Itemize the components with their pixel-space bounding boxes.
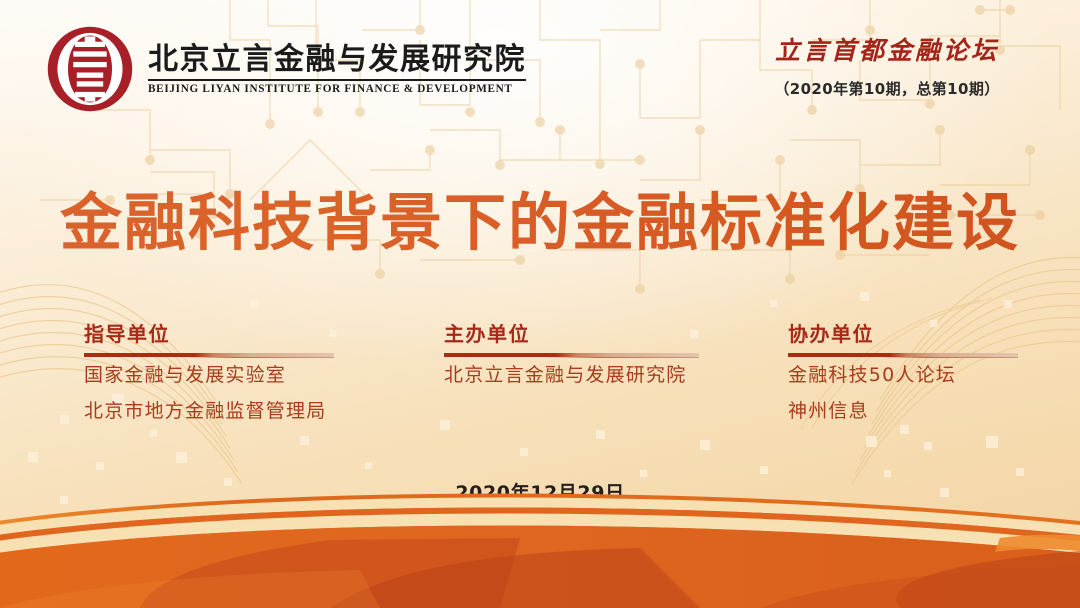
unit-line: 国家金融与发展实验室: [84, 366, 334, 385]
forum-title: 立言首都金融论坛: [742, 36, 1032, 66]
unit-heading: 指导单位: [84, 322, 334, 347]
unit-line: 北京立言金融与发展研究院: [444, 366, 699, 385]
unit-column-host: 主办单位 北京立言金融与发展研究院: [444, 322, 699, 402]
unit-divider: [84, 353, 334, 357]
institute-name-cn: 北京立言金融与发展研究院: [148, 43, 526, 77]
unit-line: 金融科技50人论坛: [788, 366, 1018, 385]
institute-name-en: BEIJING LIYAN INSTITUTE FOR FINANCE & DE…: [148, 83, 526, 95]
logo-divider: [148, 79, 526, 82]
unit-column-guiding: 指导单位 国家金融与发展实验室 北京市地方金融监督管理局: [84, 322, 334, 438]
event-main-title: 金融科技背景下的金融标准化建设: [0, 186, 1080, 259]
organizing-units: 指导单位 国家金融与发展实验室 北京市地方金融监督管理局 主办单位 北京立言金融…: [0, 322, 1080, 452]
institute-logo-block: 北京立言金融与发展研究院 BEIJING LIYAN INSTITUTE FOR…: [46, 25, 526, 113]
unit-divider: [444, 353, 699, 357]
poster-canvas: 北京立言金融与发展研究院 BEIJING LIYAN INSTITUTE FOR…: [0, 0, 1080, 608]
poster-header: 北京立言金融与发展研究院 BEIJING LIYAN INSTITUTE FOR…: [0, 0, 1080, 132]
forum-series-block: 立言首都金融论坛 （2020年第10期，总第10期）: [742, 36, 1032, 99]
unit-heading: 协办单位: [788, 322, 1018, 347]
unit-heading: 主办单位: [444, 322, 699, 347]
unit-column-coorganizer: 协办单位 金融科技50人论坛 神州信息: [788, 322, 1018, 438]
bottom-wave-decoration: [0, 478, 1080, 608]
unit-line: 北京市地方金融监督管理局: [84, 402, 334, 421]
unit-line: 神州信息: [788, 402, 1018, 421]
unit-divider: [788, 353, 1018, 357]
liyan-seal-logo-icon: [46, 25, 134, 113]
forum-issue-number: （2020年第10期，总第10期）: [742, 78, 1032, 99]
